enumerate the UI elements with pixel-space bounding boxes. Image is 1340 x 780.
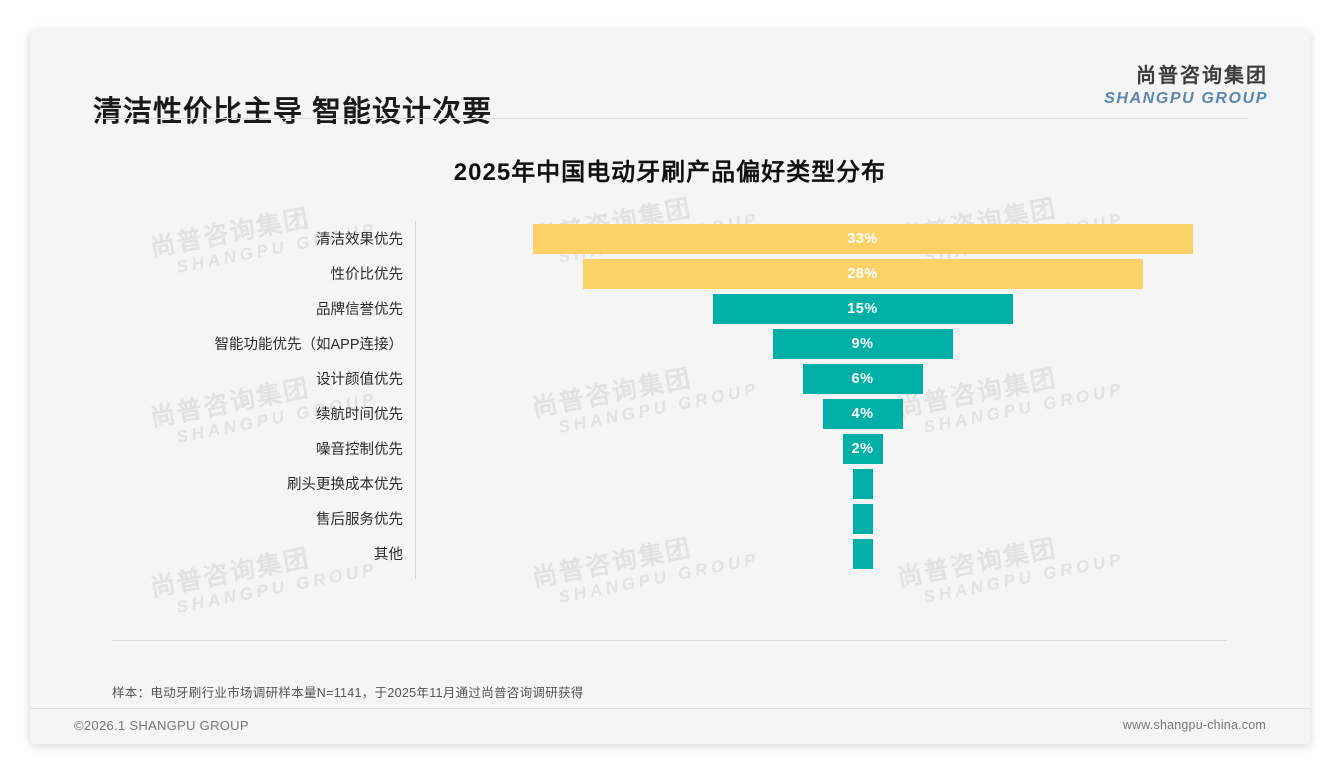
chart-row: 清洁效果优先33% (30, 221, 1310, 256)
brand-logo: 尚普咨询集团 SHANGPU GROUP (1104, 64, 1268, 109)
chart-bar[interactable] (853, 469, 873, 499)
chart-row: 其他 (30, 536, 1310, 571)
chart-bar[interactable]: 15% (713, 294, 1013, 324)
bar-value-label: 2% (852, 441, 874, 457)
category-label: 清洁效果优先 (30, 228, 415, 249)
chart-row: 智能功能优先（如APP连接）9% (30, 326, 1310, 361)
slide-card: 尚普咨询集团 SHANGPU GROUP 尚普咨询集团 SHANGPU GROU… (30, 30, 1310, 744)
chart-row: 噪音控制优先2% (30, 431, 1310, 466)
chart-bar[interactable]: 6% (803, 364, 923, 394)
category-label: 续航时间优先 (30, 403, 415, 424)
category-label: 售后服务优先 (30, 508, 415, 529)
category-label: 刷头更换成本优先 (30, 473, 415, 494)
bar-value-label: 33% (847, 231, 878, 247)
category-label: 噪音控制优先 (30, 438, 415, 459)
bar-track: 15% (415, 291, 1310, 326)
bar-track: 4% (415, 396, 1310, 431)
category-label: 设计颜值优先 (30, 368, 415, 389)
bar-rows: 清洁效果优先33%性价比优先28%品牌信誉优先15%智能功能优先（如APP连接）… (30, 221, 1310, 571)
logo-text-en: SHANGPU GROUP (1104, 89, 1268, 109)
chart-bar[interactable]: 2% (843, 434, 883, 464)
bar-value-label: 28% (847, 266, 878, 282)
category-label: 其他 (30, 543, 415, 564)
category-label: 性价比优先 (30, 263, 415, 284)
bar-value-label: 6% (852, 371, 874, 387)
slide-footer: ©2026.1 SHANGPU GROUP www.shangpu-china.… (30, 708, 1310, 744)
chart-row: 续航时间优先4% (30, 396, 1310, 431)
chart-row: 设计颜值优先6% (30, 361, 1310, 396)
bar-track (415, 501, 1310, 536)
bar-track: 9% (415, 326, 1310, 361)
chart-footnote: 样本：电动牙刷行业市场调研样本量N=1141，于2025年11月通过尚普咨询调研… (112, 682, 584, 701)
bar-track: 6% (415, 361, 1310, 396)
chart-row: 售后服务优先 (30, 501, 1310, 536)
page-title: 清洁性价比主导 智能设计次要 (93, 88, 492, 130)
bar-value-label: 15% (847, 301, 878, 317)
bar-track: 33% (415, 221, 1310, 256)
copyright-text: ©2026.1 SHANGPU GROUP (74, 718, 249, 733)
chart-bar[interactable]: 9% (773, 329, 953, 359)
chart-bar[interactable] (853, 504, 873, 534)
bar-value-label: 9% (852, 336, 874, 352)
category-label: 智能功能优先（如APP连接） (30, 333, 415, 354)
chart-bar[interactable]: 33% (533, 224, 1193, 254)
chart-row: 品牌信誉优先15% (30, 291, 1310, 326)
header-divider (93, 118, 1248, 119)
chart-bar[interactable]: 28% (583, 259, 1143, 289)
website-link[interactable]: www.shangpu-china.com (1123, 718, 1266, 732)
bar-track (415, 466, 1310, 501)
chart-title: 2025年中国电动牙刷产品偏好类型分布 (30, 152, 1310, 187)
slide-header: 清洁性价比主导 智能设计次要 尚普咨询集团 SHANGPU GROUP (30, 30, 1310, 118)
category-label: 品牌信誉优先 (30, 298, 415, 319)
bar-track: 2% (415, 431, 1310, 466)
chart-bar[interactable] (853, 539, 873, 569)
bar-track: 28% (415, 256, 1310, 291)
chart-bar[interactable]: 4% (823, 399, 903, 429)
chart-plot-area: 清洁效果优先33%性价比优先28%品牌信誉优先15%智能功能优先（如APP连接）… (30, 221, 1310, 579)
chart-row: 刷头更换成本优先 (30, 466, 1310, 501)
chart-row: 性价比优先28% (30, 256, 1310, 291)
chart-container: 2025年中国电动牙刷产品偏好类型分布 清洁效果优先33%性价比优先28%品牌信… (30, 122, 1310, 652)
footnote-divider (112, 640, 1227, 641)
bar-value-label: 4% (852, 406, 874, 422)
logo-text-cn: 尚普咨询集团 (1104, 64, 1268, 89)
bar-track (415, 536, 1310, 571)
